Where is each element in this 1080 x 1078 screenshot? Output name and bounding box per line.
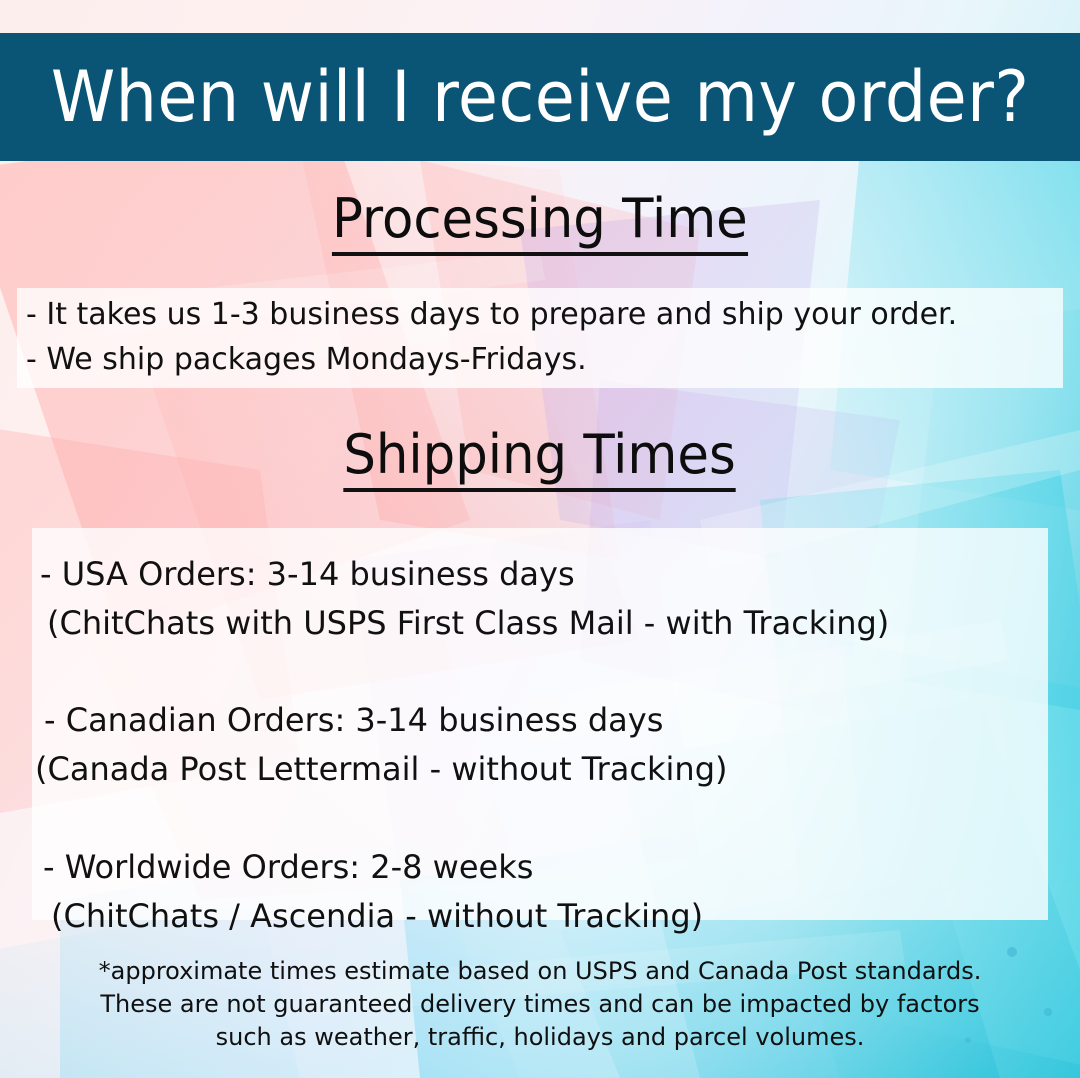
- heading-processing-time-label: Processing Time: [332, 192, 748, 256]
- footnote: *approximate times estimate based on USP…: [0, 955, 1080, 1054]
- poster-root: When will I receive my order? Processing…: [0, 0, 1080, 1078]
- shipping-group-detail: (ChitChats / Ascendia - without Tracking…: [32, 892, 1048, 941]
- shipping-group-usa: - USA Orders: 3-14 business days (ChitCh…: [32, 550, 1048, 648]
- heading-shipping-times: Shipping Times: [0, 428, 1080, 492]
- shipping-group-title: - USA Orders: 3-14 business days: [32, 550, 1048, 599]
- shipping-times-panel: - USA Orders: 3-14 business days (ChitCh…: [32, 528, 1048, 920]
- footnote-line: *approximate times estimate based on USP…: [0, 955, 1080, 988]
- footnote-line: such as weather, traffic, holidays and p…: [0, 1021, 1080, 1054]
- header-banner: When will I receive my order?: [0, 33, 1080, 161]
- shipping-group-title: - Canadian Orders: 3-14 business days: [32, 696, 1048, 745]
- shipping-group-title: - Worldwide Orders: 2-8 weeks: [32, 843, 1048, 892]
- shipping-group-detail: (Canada Post Lettermail - without Tracki…: [32, 745, 1048, 794]
- heading-shipping-times-label: Shipping Times: [344, 428, 736, 492]
- shipping-group-worldwide: - Worldwide Orders: 2-8 weeks (ChitChats…: [32, 843, 1048, 941]
- heading-processing-time: Processing Time: [0, 192, 1080, 256]
- processing-line: - It takes us 1-3 business days to prepa…: [17, 292, 1063, 337]
- banner-title: When will I receive my order?: [51, 62, 1030, 132]
- shipping-group-canada: - Canadian Orders: 3-14 business days (C…: [32, 696, 1048, 794]
- processing-line: - We ship packages Mondays-Fridays.: [17, 337, 1063, 382]
- shipping-group-detail: (ChitChats with USPS First Class Mail - …: [32, 599, 1048, 648]
- processing-time-panel: - It takes us 1-3 business days to prepa…: [17, 288, 1063, 388]
- content-area: Processing Time - It takes us 1-3 busine…: [0, 0, 1080, 1078]
- footnote-line: These are not guaranteed delivery times …: [0, 988, 1080, 1021]
